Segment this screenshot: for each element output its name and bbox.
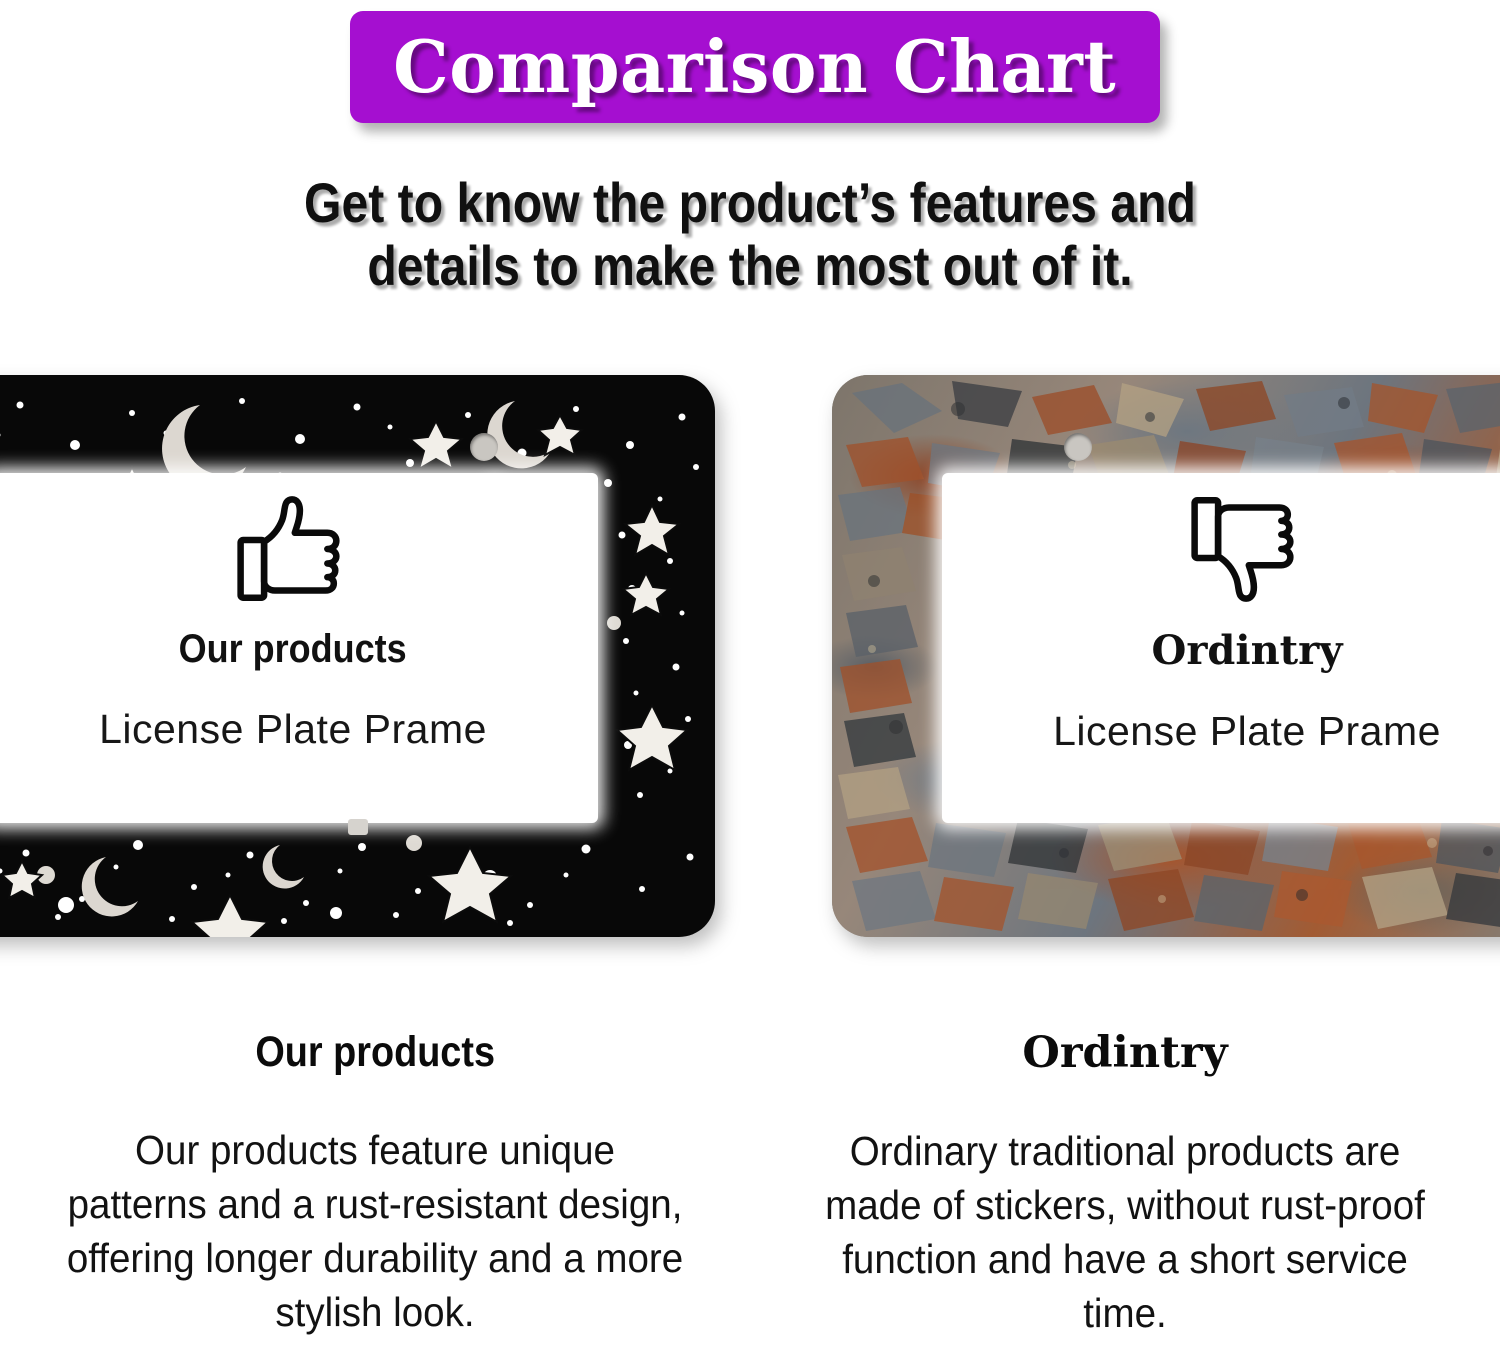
column-title: Ordintry bbox=[1022, 1028, 1227, 1078]
description-columns: Our products Our products feature unique… bbox=[0, 1028, 1500, 1364]
ordinary-product-description-column: Ordintry Ordinary traditional products a… bbox=[750, 1028, 1500, 1364]
thumbs-down-icon bbox=[1189, 493, 1305, 605]
mounting-hole bbox=[470, 433, 498, 461]
comparison-chart-page: Comparison Chart Get to know the product… bbox=[0, 0, 1500, 1364]
column-title: Our products bbox=[255, 1028, 495, 1077]
plate-title: Our products bbox=[179, 627, 407, 672]
our-product-frame: Our products License Plate Prame bbox=[0, 375, 715, 937]
plate-subtitle: License Plate Prame bbox=[1053, 708, 1441, 755]
plate-subtitle: License Plate Prame bbox=[99, 706, 487, 753]
our-product-plate-content: Our products License Plate Prame bbox=[0, 473, 598, 823]
column-description: Ordinary traditional products are made o… bbox=[824, 1124, 1426, 1340]
thumbs-up-icon bbox=[235, 493, 351, 605]
mounting-hole bbox=[1064, 433, 1092, 461]
plate-title: Ordintry bbox=[1152, 627, 1343, 674]
ordinary-product-plate-content: Ordintry License Plate Prame bbox=[942, 473, 1500, 823]
our-product-description-column: Our products Our products feature unique… bbox=[0, 1028, 750, 1364]
ordinary-product-frame: Ordintry License Plate Prame bbox=[832, 375, 1500, 937]
column-description: Our products feature unique patterns and… bbox=[65, 1123, 685, 1339]
